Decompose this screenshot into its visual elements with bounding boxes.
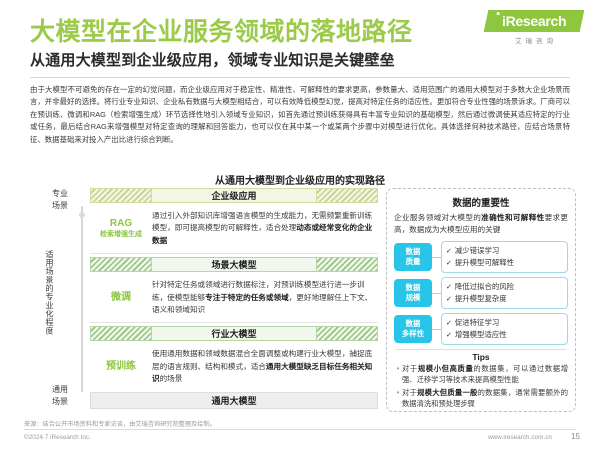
tips-divider [396,349,566,350]
list-item: ✓增强模型适应性 [446,329,563,341]
step-text-pretrain: 使用通用数据和领域数据混合全面调整或构建行业大模型，捕捉底层的语言规则、结构和模… [152,348,378,385]
pillar-items: ✓降低过拟合的风险 ✓提升模型复杂度 [441,277,568,309]
bullet-icon: • [394,387,402,409]
bar-label: 企业级应用 [211,189,256,202]
step-tag-rag: RAG 检索增强生成 [90,218,152,240]
pillar-items: ✓减少错误学习 ✓提升模型可解释性 [441,241,568,273]
check-icon: ✓ [446,296,452,303]
axis-label-vertical: 适用场景的专业化程度 [40,250,54,335]
check-icon: ✓ [446,260,452,267]
pillar-badge: 数据 多样性 [394,315,432,343]
tip-text: 对于规模大但质量一般的数据集，通常需要额外的数据清洗和预处理步骤 [402,387,568,409]
footer-divider [24,429,576,430]
list-item: ✓促进特征学习 [446,317,563,329]
step-tag-finetune: 微调 [90,292,152,304]
step-text-rag: 通过引入外部知识库增强语言模型的生成能力，无需频繁重新训练模型，即可提高模型的可… [152,210,378,247]
panel-lead: 企业服务领域对大模型的准确性和可解释性要求更高，数据成为大模型应用的关键 [394,212,568,236]
step-text-finetune: 针对特定任务或领域进行数据标注，对预训练模型进行进一步训练，使模型能够专注于特定… [152,279,378,316]
copyright-note: ©2024.7 iResearch Inc. [24,434,91,441]
hatch-right [316,257,378,272]
check-icon: ✓ [446,248,452,255]
chart-title: 从通用大模型到企业级应用的实现路径 [0,172,600,187]
title-divider [30,77,570,78]
tip-text: 对于规模小但高质量的数据集，可以通过数据增强、迁移学习等技术来提高模型性能 [402,363,568,385]
hatch-left [90,326,152,341]
pillar-data-diversity: 数据 多样性 ✓促进特征学习 ✓增强模型适应性 [394,313,568,345]
page-number: 15 [571,432,580,441]
step-pretrain: 预训练 使用通用数据和领域数据混合全面调整或构建行业大模型，捕捉底层的语言规则、… [90,343,378,391]
vertical-axis-line [81,206,83,392]
body-paragraph: 由于大模型不可避免的存在一定的幻觉问题，而企业级应用对于稳定性、精准性、可解释性… [30,84,570,146]
pillar-items: ✓促进特征学习 ✓增强模型适应性 [441,313,568,345]
pillar-list: 数据 质量 ✓减少错误学习 ✓提升模型可解释性 数据 规模 ✓降低过拟合的风险 … [394,241,568,345]
connector-line [432,257,441,258]
step-tag-pretrain: 预训练 [90,361,152,373]
pillar-data-quality: 数据 质量 ✓减少错误学习 ✓提升模型可解释性 [394,241,568,273]
logo-dot-icon [497,12,500,15]
implementation-path-diagram: 专业 场景 适用场景的专业化程度 通用 场景 企业级应用 RAG 检索增强生成 [24,188,378,414]
step-tag-sub: 检索增强生成 [90,230,152,240]
iresearch-logo: iResearch 艾瑞咨询 [486,10,582,45]
pillar-data-scale: 数据 规模 ✓降低过拟合的风险 ✓提升模型复杂度 [394,277,568,309]
connector-line [432,329,441,330]
row-divider [90,322,378,323]
pillar-badge: 数据 规模 [394,279,432,307]
step-tag-main: RAG [90,218,152,230]
bar-label: 场景大模型 [211,258,256,271]
axis-label-top: 专业 场景 [42,188,78,212]
step-tag-main: 预训练 [90,361,152,373]
list-item: ✓提升模型可解释性 [446,257,563,269]
step-rag: RAG 检索增强生成 通过引入外部知识库增强语言模型的生成能力，无需频繁重新训练… [90,205,378,253]
bar-industry-model: 行业大模型 [90,326,378,341]
pillar-badge: 数据 质量 [394,243,432,271]
path-rows: 企业级应用 RAG 检索增强生成 通过引入外部知识库增强语言模型的生成能力，无需… [90,188,378,409]
row-divider [90,253,378,254]
tips-title: Tips [394,352,568,362]
bar-enterprise-application: 企业级应用 [90,188,378,203]
slide-page: iResearch 艾瑞咨询 大模型在企业服务领域的落地路径 从通用大模型到企业… [0,0,600,449]
page-title: 大模型在企业服务领域的落地路径 [30,20,413,45]
hatch-left [90,257,152,272]
logo-chinese-name: 艾瑞咨询 [486,35,582,45]
page-subtitle: 从通用大模型到企业级应用，领域专业知识是关键壁垒 [30,53,395,68]
panel-title: 数据的重要性 [394,195,568,209]
list-item: ✓提升模型复杂度 [446,293,563,305]
list-item: ✓降低过拟合的风险 [446,281,563,293]
hatch-right [316,188,378,203]
tip-item: • 对于规模大但质量一般的数据集，通常需要额外的数据清洗和预处理步骤 [394,387,568,409]
step-finetune: 微调 针对特定任务或领域进行数据标注，对预训练模型进行进一步训练，使模型能够专注… [90,274,378,322]
check-icon: ✓ [446,284,452,291]
check-icon: ✓ [446,320,452,327]
logo-mark: iResearch [484,10,585,32]
hatch-left [90,188,152,203]
source-note: 来源：结合公开市场资料和专家访谈，由艾瑞咨询研究院整理及绘制。 [24,419,216,428]
connector-line [432,293,441,294]
bar-scenario-model: 场景大模型 [90,257,378,272]
bullet-icon: • [394,363,402,385]
logo-wordmark: iResearch [502,14,566,28]
bar-label: 行业大模型 [211,327,256,340]
data-importance-panel: 数据的重要性 企业服务领域对大模型的准确性和可解释性要求更高，数据成为大模型应用… [386,188,576,412]
bar-general-model: 通用大模型 [90,392,378,409]
step-tag-main: 微调 [90,292,152,304]
axis-label-bottom: 通用 场景 [42,384,78,408]
check-icon: ✓ [446,332,452,339]
website-url: www.iresearch.com.cn [488,434,552,441]
hatch-right [316,326,378,341]
list-item: ✓减少错误学习 [446,245,563,257]
axis-dot-icon [79,212,85,218]
tip-item: • 对于规模小但高质量的数据集，可以通过数据增强、迁移学习等技术来提高模型性能 [394,363,568,385]
